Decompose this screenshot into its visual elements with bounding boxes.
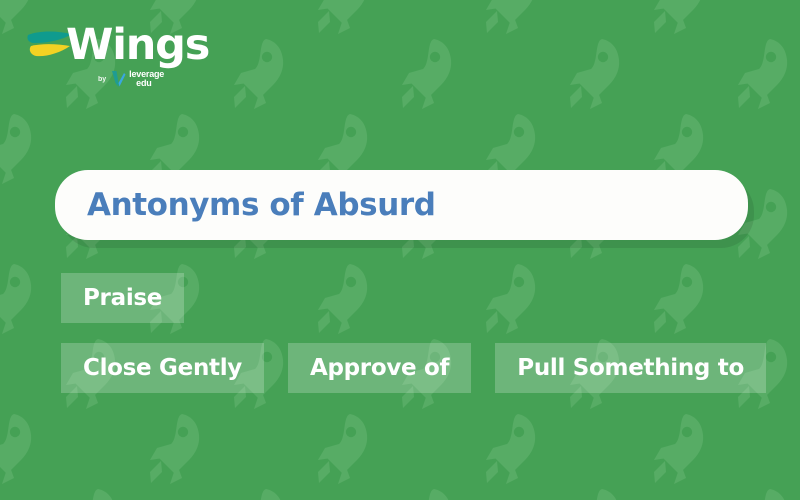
title-card: Antonyms of Absurd (55, 170, 748, 240)
answer-chip[interactable]: Pull Something to (495, 343, 766, 393)
answer-chip-label: Approve of (310, 355, 449, 381)
answer-chip[interactable]: Close Gently (61, 343, 264, 393)
wings-logo[interactable]: Wings by leverage edu (24, 24, 209, 89)
answer-chip[interactable]: Praise (61, 273, 184, 323)
page-title: Antonyms of Absurd (55, 187, 436, 223)
logo-partner-lockup: by leverage edu (98, 70, 164, 89)
logo-wordmark: Wings (66, 24, 209, 67)
answer-chip-label: Pull Something to (517, 355, 744, 381)
logo-primary: Wings (24, 24, 209, 67)
edu-line: edu (136, 79, 164, 88)
answer-chip-label: Close Gently (83, 355, 242, 381)
leverage-check-icon (111, 70, 126, 88)
answer-chip[interactable]: Approve of (288, 343, 471, 393)
leverage-edu-wordmark: leverage edu (129, 70, 164, 89)
logo-by-label: by (98, 76, 106, 83)
slide-canvas: Wings by leverage edu Antonyms of Absurd… (0, 0, 800, 500)
answer-chip-label: Praise (83, 285, 162, 311)
answer-row-2: Close Gently Approve of Pull Something t… (61, 343, 790, 393)
answer-row-1: Praise (61, 273, 208, 323)
